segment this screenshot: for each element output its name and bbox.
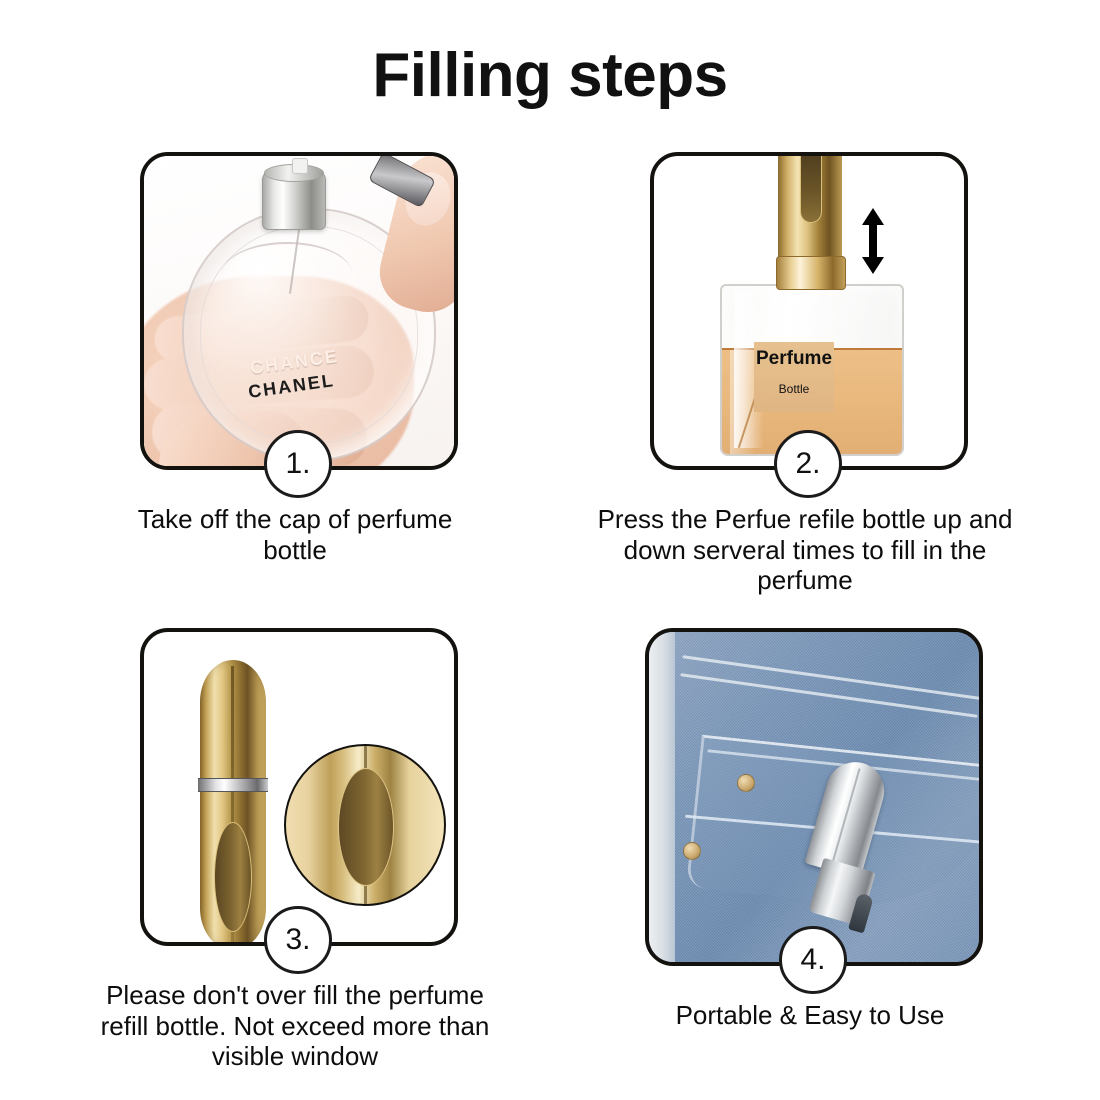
step-number-badge-4: 4.: [779, 926, 847, 994]
step-card-3: 3. Please don't over fill the perfume re…: [140, 628, 450, 938]
denim-rivet: [737, 774, 755, 792]
step-3-image-frame: [140, 628, 458, 946]
page-title: Filling steps: [0, 40, 1100, 111]
step-4-image-frame: [645, 628, 983, 966]
step-card-4: 4. Portable & Easy to Use: [645, 628, 975, 958]
infographic-page: Filling steps CHANCE CHANEL 1. T: [0, 0, 1100, 1100]
sprayer-nozzle: [292, 158, 308, 174]
step-card-1: CHANCE CHANEL 1. Take off the cap of per…: [140, 152, 450, 462]
atomizer-visible-window: [214, 822, 252, 932]
step-card-2: Perfume Bottle 2. Press the Perfue refil…: [650, 152, 960, 462]
atomizer-window: [800, 152, 822, 223]
step-number-badge-1: 1.: [264, 430, 332, 498]
step-number-badge-2: 2.: [774, 430, 842, 498]
denim-rivet: [683, 842, 701, 860]
background-edge: [649, 632, 675, 962]
step-1-image-frame: CHANCE CHANEL: [140, 152, 458, 470]
bottle-label-title: Perfume: [754, 348, 834, 370]
step-caption-2: Press the Perfue refile bottle up and do…: [590, 504, 1020, 596]
step-caption-1: Take off the cap of perfume bottle: [115, 504, 475, 565]
step-caption-4: Portable & Easy to Use: [600, 1000, 1020, 1031]
magnified-visible-window: [338, 768, 394, 886]
atomizer-silver-ring: [198, 778, 268, 792]
up-down-arrow-icon: [860, 208, 886, 274]
step-number-badge-3: 3.: [264, 906, 332, 974]
magnified-window-inset: [284, 744, 446, 906]
step-2-image-frame: Perfume Bottle: [650, 152, 968, 470]
atomizer-collar: [776, 256, 846, 290]
step-caption-3: Please don't over fill the perfume refil…: [80, 980, 510, 1072]
bottle-label-subtitle: Bottle: [754, 382, 834, 396]
